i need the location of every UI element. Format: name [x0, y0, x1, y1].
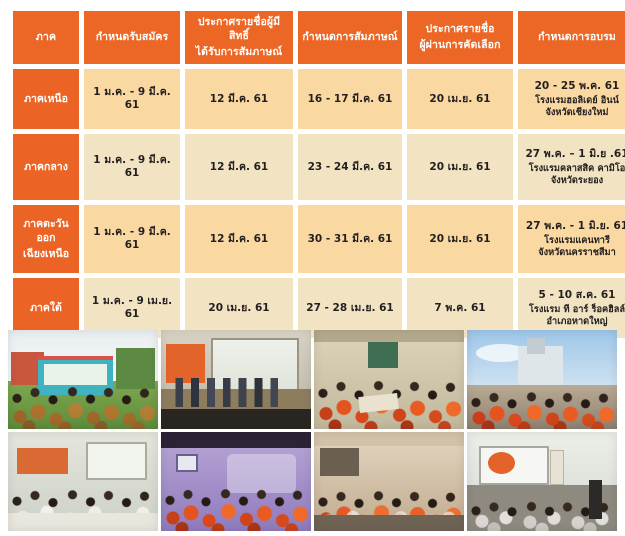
photo-gallery-row-top	[8, 330, 617, 429]
cell-interview-announcement-north: 12 มี.ค. 61	[185, 69, 293, 129]
photo-group-photo-outdoor-ship-dock	[467, 330, 617, 429]
table-header: ภาค กำหนดรับสมัคร ประกาศรายชื่อผู้มีสิทธ…	[13, 11, 625, 64]
cell-training-northeast: 27 พ.ค. - 1 มิ.ย. 61 โรงแรมแคนทารี จังหว…	[518, 205, 625, 273]
cell-application-period-north: 1 ม.ค. - 9 มี.ค. 61	[84, 69, 180, 129]
presenters-row	[170, 378, 302, 408]
column-header-training-schedule: กำหนดการอบรม	[518, 11, 625, 64]
cell-training-central: 27 พ.ค. – 1 มิ.ย .61 โรงแรมคลาสสิค คามิโ…	[518, 134, 625, 200]
visitors-heads	[161, 458, 311, 531]
participants-heads	[314, 344, 464, 429]
region-label-northeast: ภาคตะวันออก เฉียงเหนือ	[13, 205, 79, 273]
column-header-interview-eligibility-line-1: ประกาศรายชื่อผู้มีสิทธิ์	[188, 15, 290, 44]
crowd-bodies-layer	[8, 368, 158, 429]
region-label-central: ภาคกลาง	[13, 134, 79, 200]
cell-selection-announcement-central: 20 เม.ย. 61	[407, 134, 513, 200]
cell-selection-announcement-northeast: 20 เม.ย. 61	[407, 205, 513, 273]
column-header-selection-results-line-1: ประกาศรายชื่อ	[410, 22, 510, 36]
training-venue-south: โรงแรม ที อาร์ ร็อคฮิลล์	[521, 304, 625, 317]
training-date-central: 27 พ.ค. – 1 มิ.ย .61	[521, 147, 625, 161]
column-header-interview-schedule-line-1: กำหนดการสัมภาษณ์	[302, 31, 397, 43]
audience-silhouette	[161, 409, 311, 429]
photo-exhibition-world-map-display	[161, 432, 311, 531]
column-header-application-period: กำหนดรับสมัคร	[84, 11, 180, 64]
training-venue-northeast: โรงแรมแคนทารี	[521, 235, 625, 248]
participants-heads	[467, 366, 617, 429]
photo-conference-presentation-audience	[467, 432, 617, 531]
training-province-north: จังหวัดเชียงใหม่	[521, 107, 625, 120]
cell-application-period-central: 1 ม.ค. - 9 มี.ค. 61	[84, 134, 180, 200]
column-header-training-schedule-line-1: กำหนดการอบรม	[538, 31, 616, 43]
table-row-front	[8, 513, 158, 531]
training-province-south: อำเภอหาดใหญ่	[521, 316, 625, 329]
table-row: ภาคเหนือ 1 ม.ค. - 9 มี.ค. 61 12 มี.ค. 61…	[13, 69, 625, 129]
ship-bridge	[527, 338, 545, 354]
column-header-selection-results-announcement: ประกาศรายชื่อ ผู้ผ่านการคัดเลือก	[407, 11, 513, 64]
table-body: ภาคเหนือ 1 ม.ค. - 9 มี.ค. 61 12 มี.ค. 61…	[13, 69, 625, 338]
training-province-northeast: จังหวัดนครราชสีมา	[521, 247, 625, 260]
photo-gallery	[8, 330, 617, 532]
training-date-south: 5 - 10 ส.ค. 61	[521, 288, 625, 302]
region-label-north-line-1: ภาคเหนือ	[24, 93, 68, 105]
region-label-south-line-1: ภาคใต้	[30, 302, 62, 314]
dark-ceiling	[161, 432, 311, 448]
column-header-selection-results-line-2: ผู้ผ่านการคัดเลือก	[410, 38, 510, 52]
training-date-northeast: 27 พ.ค. - 1 มิ.ย. 61	[521, 219, 625, 233]
photo-workshop-activity-orange-shirts	[314, 330, 464, 429]
training-venue-north: โรงแรมฮอลิเดย์ อินน์	[521, 95, 625, 108]
column-header-interview-schedule: กำหนดการสัมภาษณ์	[298, 11, 402, 64]
recruitment-schedule-table: ภาค กำหนดรับสมัคร ประกาศรายชื่อผู้มีสิทธ…	[8, 6, 625, 343]
region-label-northeast-line-2: เฉียงเหนือ	[16, 247, 76, 261]
table-row: ภาคกลาง 1 ม.ค. - 9 มี.ค. 61 12 มี.ค. 61 …	[13, 134, 625, 200]
photo-group-photo-mobile-exhibition-truck	[8, 330, 158, 429]
roll-up-banner	[550, 450, 564, 486]
schedule-poster: ภาค กำหนดรับสมัคร ประกาศรายชื่อผู้มีสิทธ…	[0, 0, 625, 536]
training-date-north: 20 - 25 พ.ค. 61	[521, 79, 625, 93]
region-label-central-line-1: ภาคกลาง	[24, 161, 68, 173]
photo-seminar-room-group-photo	[8, 432, 158, 531]
table-row: ภาคตะวันออก เฉียงเหนือ 1 ม.ค. - 9 มี.ค. …	[13, 205, 625, 273]
ceiling-band	[314, 330, 464, 342]
column-header-region: ภาค	[13, 11, 79, 64]
cell-interview-date-north: 16 - 17 มี.ค. 61	[298, 69, 402, 129]
table-header-row: ภาค กำหนดรับสมัคร ประกาศรายชื่อผู้มีสิทธ…	[13, 11, 625, 64]
cell-application-period-northeast: 1 ม.ค. - 9 มี.ค. 61	[84, 205, 180, 273]
cell-interview-date-northeast: 30 - 31 มี.ค. 61	[298, 205, 402, 273]
training-province-central: จังหวัดระยอง	[521, 175, 625, 188]
cell-training-north: 20 - 25 พ.ค. 61 โรงแรมฮอลิเดย์ อินน์ จัง…	[518, 69, 625, 129]
column-header-interview-eligibility-announcement: ประกาศรายชื่อผู้มีสิทธิ์ ได้รับการสัมภาษ…	[185, 11, 293, 64]
photo-presentation-on-stage-auditorium	[161, 330, 311, 429]
standing-speaker	[589, 480, 603, 520]
photo-gallery-row-bottom	[8, 432, 617, 531]
column-header-interview-eligibility-line-2: ได้รับการสัมภาษณ์	[188, 45, 290, 59]
cell-interview-announcement-central: 12 มี.ค. 61	[185, 134, 293, 200]
training-venue-central: โรงแรมคลาสสิค คามิโอ	[521, 163, 625, 176]
photo-group-photo-ballroom-stage	[314, 432, 464, 531]
column-header-application-period-line-1: กำหนดรับสมัคร	[96, 31, 168, 43]
cell-interview-announcement-northeast: 12 มี.ค. 61	[185, 205, 293, 273]
carpet-floor	[314, 515, 464, 531]
cell-selection-announcement-north: 20 เม.ย. 61	[407, 69, 513, 129]
column-header-region-line-1: ภาค	[36, 31, 56, 43]
cell-interview-date-central: 23 - 24 มี.ค. 61	[298, 134, 402, 200]
region-label-northeast-line-1: ภาคตะวันออก	[16, 217, 76, 246]
region-label-north: ภาคเหนือ	[13, 69, 79, 129]
ceiling-cove	[314, 432, 464, 446]
slide-chart-graphic	[488, 452, 515, 474]
